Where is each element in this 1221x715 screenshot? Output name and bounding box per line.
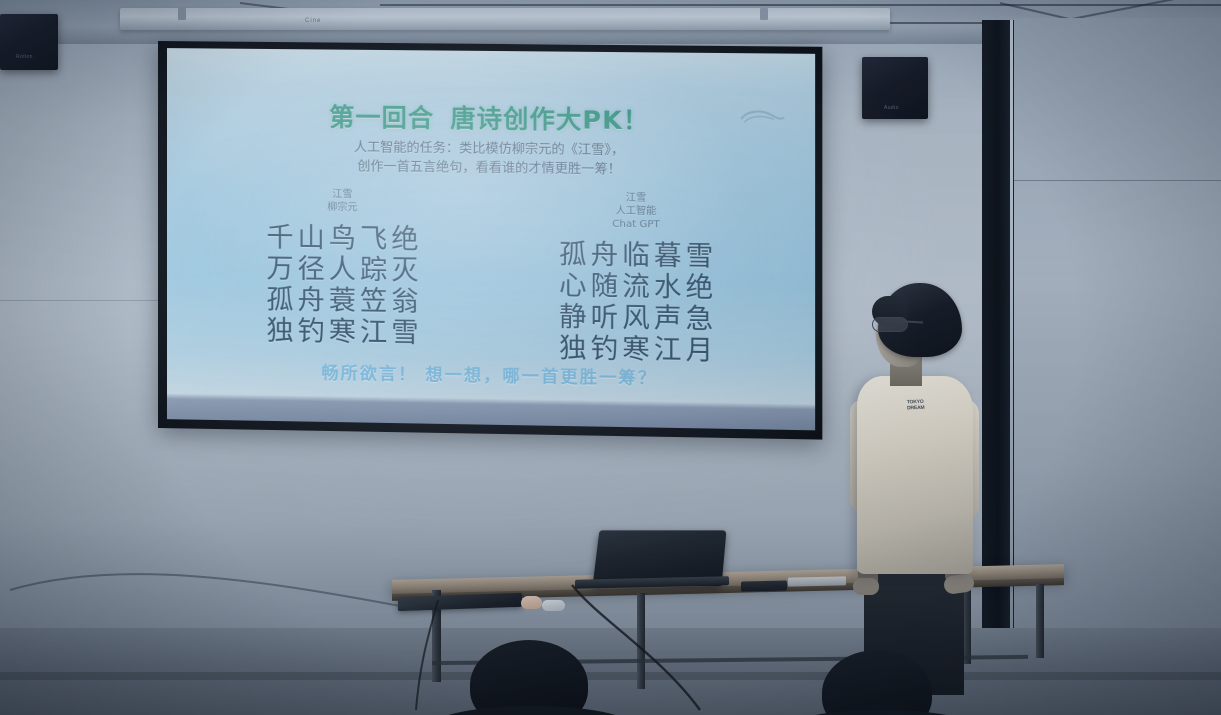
presenter-left-hand <box>853 578 879 595</box>
ceiling-speaker-right: Audio <box>862 57 928 119</box>
slide-subtitle: 人工智能的任务：类比模仿柳宗元的《江雪》， 创作一首五言绝句，看看谁的才情更胜一… <box>237 137 743 181</box>
slide-title-part2: 唐诗创作大PK！ <box>450 104 649 135</box>
slide: 第一回合唐诗创作大PK！ 人工智能的任务：类比模仿柳宗元的《江雪》， 创作一首五… <box>167 48 815 430</box>
housing-bracket <box>178 8 186 20</box>
poem-line: 静听风声急 <box>506 301 766 336</box>
ceiling-grid-line <box>380 4 1221 6</box>
poem-author-ai-model: Chat GPT <box>506 216 766 232</box>
screenshot-scene: Rotion Audio Cine 第一回合唐诗创作大PK！ <box>0 0 1221 715</box>
poem-heading-ai: 江雪 人工智能 Chat GPT <box>506 190 766 233</box>
slide-title: 第一回合唐诗创作大PK！ <box>167 96 815 139</box>
poem-line: 心随流水绝 <box>506 270 766 305</box>
poem-body-human: 千山鸟飞绝 万径人踪灭 孤舟蓑笠翁 独钓寒江雪 <box>214 222 471 350</box>
ceiling-speaker-left: Rotion <box>0 14 58 70</box>
speaker-right-label: Audio <box>884 105 899 111</box>
slide-title-part1: 第一回合 <box>329 103 434 133</box>
poem-line: 孤舟临暮雪 <box>506 239 766 274</box>
poem-body-ai: 孤舟临暮雪 心随流水绝 静听风声急 独钓寒江月 <box>506 239 766 368</box>
poem-column-ai: 江雪 人工智能 Chat GPT 孤舟临暮雪 心随流水绝 静听风声急 独钓寒江月 <box>506 190 766 367</box>
poem-column-human: 江雪 柳宗元 千山鸟飞绝 万径人踪灭 孤舟蓑笠翁 独钓寒江雪 <box>214 187 471 363</box>
poem-line: 孤舟蓑笠翁 <box>214 284 471 319</box>
poem-line: 万径人踪灭 <box>214 253 471 288</box>
poem-heading-human: 江雪 柳宗元 <box>214 187 471 216</box>
projection-screen-housing: Cine <box>120 8 890 30</box>
presenter-glasses <box>872 317 908 332</box>
projection-screen-surface: 第一回合唐诗创作大PK！ 人工智能的任务：类比模仿柳宗元的《江雪》， 创作一首五… <box>167 48 815 430</box>
poem-line: 独钓寒江雪 <box>214 315 471 350</box>
wall-seam <box>1012 180 1221 181</box>
wall-cable <box>0 430 520 630</box>
housing-bracket <box>760 8 768 20</box>
poem-columns: 江雪 柳宗元 千山鸟飞绝 万径人踪灭 孤舟蓑笠翁 独钓寒江雪 江雪 <box>197 186 784 367</box>
poem-line: 千山鸟飞绝 <box>214 222 471 257</box>
wall-seam-left <box>0 300 160 301</box>
presenter-shirt-graphic: TOKYO DREAM <box>907 399 931 413</box>
projection-screen: 第一回合唐诗创作大PK！ 人工智能的任务：类比模仿柳宗元的《江雪》， 创作一首五… <box>158 41 822 440</box>
housing-brand-label: Cine <box>305 18 321 24</box>
shirt-graphic-line-2: DREAM <box>907 405 931 412</box>
poem-author-human: 柳宗元 <box>214 200 471 216</box>
speaker-left-label: Rotion <box>16 54 33 60</box>
